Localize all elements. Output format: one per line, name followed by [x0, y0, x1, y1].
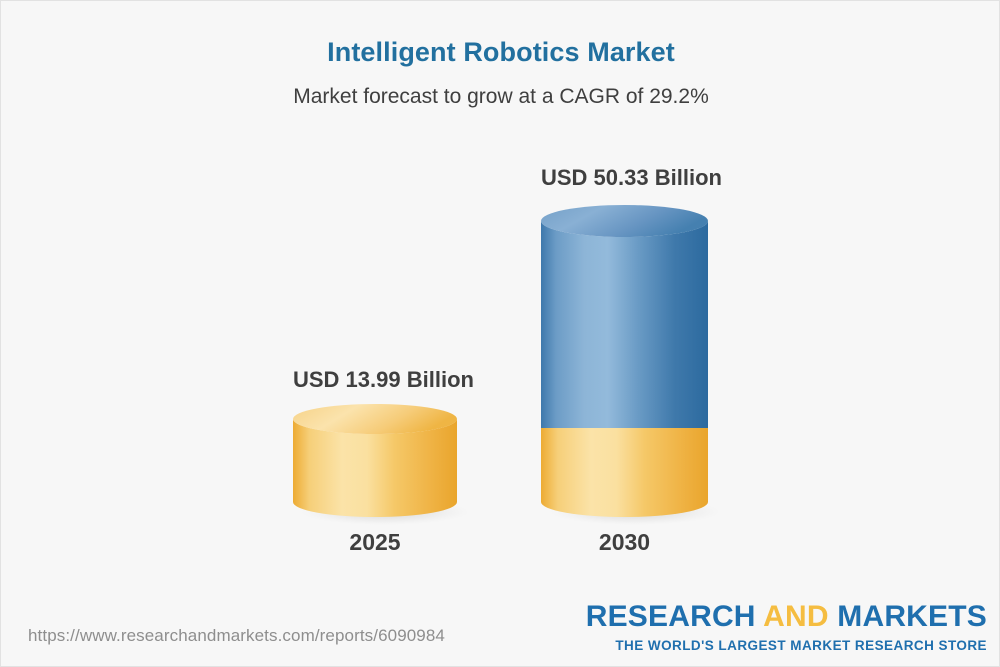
cylinder-segment-base-2030	[541, 428, 708, 517]
logo-word-and: AND	[763, 600, 829, 633]
cylinder-top-2025	[293, 404, 457, 434]
cylinder-2025	[293, 404, 457, 519]
logo-wordmark: RESEARCH AND MARKETS	[586, 602, 987, 632]
plot-area: USD 13.99 Billion	[1, 1, 1000, 667]
chart-canvas: Intelligent Robotics Market Market forec…	[0, 0, 1000, 667]
logo-tagline: THE WORLD'S LARGEST MARKET RESEARCH STOR…	[586, 639, 987, 653]
bar-group-2025: USD 13.99 Billion	[293, 1, 457, 667]
category-label-2030: 2030	[541, 529, 708, 556]
value-label-2025: USD 13.99 Billion	[293, 367, 457, 393]
logo-word-research: RESEARCH	[586, 600, 756, 633]
cylinder-segment-growth-2030	[541, 221, 708, 428]
source-url[interactable]: https://www.researchandmarkets.com/repor…	[28, 626, 445, 646]
cylinder-2030	[541, 205, 708, 519]
logo-word-markets: MARKETS	[837, 600, 987, 633]
category-label-2025: 2025	[293, 529, 457, 556]
value-label-2030: USD 50.33 Billion	[541, 165, 708, 191]
bar-group-2030: USD 50.33 Billion	[541, 1, 708, 667]
cylinder-top-2030	[541, 205, 708, 237]
brand-logo[interactable]: RESEARCH AND MARKETS THE WORLD'S LARGEST…	[586, 602, 987, 653]
